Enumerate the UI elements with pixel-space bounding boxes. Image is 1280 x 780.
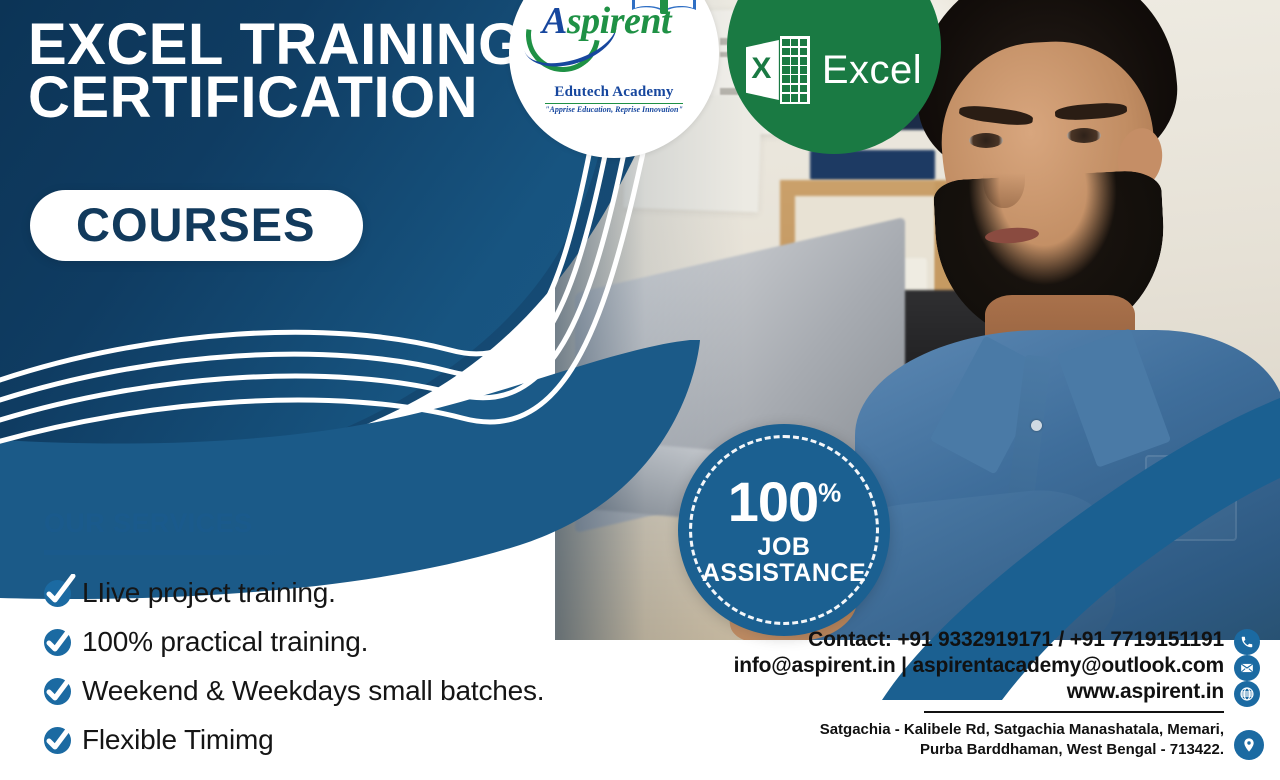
service-label: Flexible Timimg (82, 724, 273, 756)
our-services-title: OUR SERVICES (44, 508, 664, 539)
photo-blue-book (810, 150, 935, 180)
globe-icon[interactable] (1234, 681, 1260, 707)
contact-email-text: info@aspirent.in | aspirentacademy@outlo… (734, 654, 1224, 678)
excel-training-promo-banner: EXCEL TRAINING CERTIFICATION COURSES Asp… (0, 0, 1280, 780)
our-services-underline (44, 550, 304, 555)
job-assistance-line-1: JOB (758, 534, 811, 560)
list-item: 100% practical training. (44, 626, 664, 658)
check-icon (44, 580, 71, 607)
courses-pill: COURSES (30, 190, 363, 261)
check-icon (44, 629, 71, 656)
check-icon (44, 678, 71, 705)
job-assistance-line-2: ASSISTANCE (702, 560, 866, 586)
our-services-section: OUR SERVICES LIive project training. 100… (44, 508, 664, 773)
headline-line-2: CERTIFICATION (28, 71, 548, 124)
contact-email-row: info@aspirent.in | aspirentacademy@outlo… (734, 654, 1224, 678)
contact-phone-text: Contact: +91 9332919171 / +91 7719151191 (808, 628, 1224, 652)
headline: EXCEL TRAINING CERTIFICATION (28, 18, 548, 125)
excel-icon-grid (780, 36, 810, 104)
excel-badge-label: Excel (822, 48, 922, 93)
list-item: Weekend & Weekdays small batches. (44, 675, 664, 707)
contact-website-row: www.aspirent.in (734, 680, 1224, 704)
headline-line-1: EXCEL TRAINING (28, 18, 548, 71)
job-assistance-percent: 100% (728, 474, 841, 530)
contact-address-line-1: Satgachia - Kalibele Rd, Satgachia Manas… (734, 720, 1224, 740)
phone-icon[interactable] (1234, 629, 1260, 655)
job-assistance-badge: 100% JOB ASSISTANCE (678, 424, 890, 636)
excel-icon: X (746, 36, 810, 104)
envelope-icon[interactable] (1234, 655, 1260, 681)
location-pin-icon[interactable] (1234, 730, 1264, 760)
service-label: 100% practical training. (82, 626, 368, 658)
contact-address-line-2: Purba Barddhaman, West Bengal - 713422. (734, 740, 1224, 760)
photo-shirt-pocket (1145, 455, 1237, 541)
contact-phone-row: Contact: +91 9332919171 / +91 7719151191 (734, 628, 1224, 652)
aspirent-wordmark: Aspirent (542, 2, 671, 40)
aspirent-tagline: "Apprise Education, Reprise Innovation" (545, 103, 683, 114)
list-item: Flexible Timimg (44, 724, 664, 756)
service-label: Weekend & Weekdays small batches. (82, 675, 544, 707)
list-item: LIive project training. (44, 577, 664, 609)
service-label: LIive project training. (82, 577, 336, 609)
contact-divider (924, 711, 1224, 713)
our-services-list: LIive project training. 100% practical t… (44, 577, 664, 756)
photo-person-eye (1067, 128, 1101, 143)
contact-website-text: www.aspirent.in (1067, 680, 1224, 704)
photo-shirt-button (1031, 420, 1042, 431)
excel-icon-letter: X (751, 54, 771, 84)
aspirent-logo-mark: Aspirent (520, 0, 708, 88)
contact-address-row: Satgachia - Kalibele Rd, Satgachia Manas… (734, 720, 1224, 759)
check-icon (44, 727, 71, 754)
contact-block: Contact: +91 9332919171 / +91 7719151191… (734, 628, 1224, 759)
excel-icon-letter-panel: X (746, 40, 779, 100)
photo-person-eye (969, 133, 1003, 148)
